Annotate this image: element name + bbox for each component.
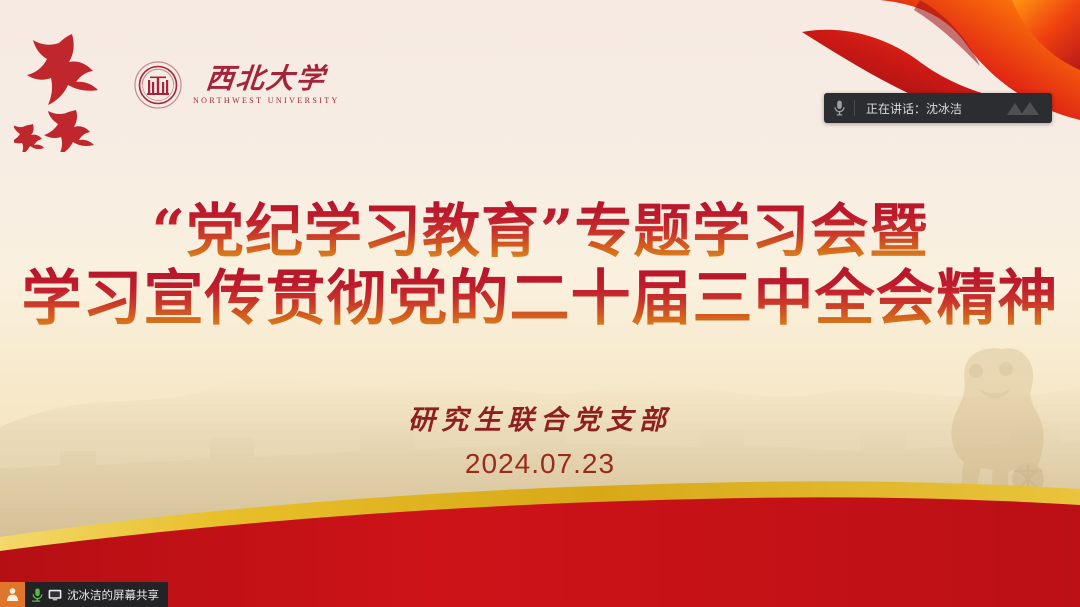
- taskbar-title: 沈冰洁的屏幕共享: [67, 587, 159, 603]
- active-speaker-label: 正在讲话：沈冰洁: [855, 100, 994, 117]
- screen-share-icon[interactable]: [48, 589, 62, 601]
- meeting-app-icon[interactable]: [0, 582, 25, 607]
- active-speaker-bar[interactable]: 正在讲话：沈冰洁: [824, 93, 1052, 123]
- screen-share-taskbar[interactable]: 沈冰洁的屏幕共享: [0, 582, 168, 607]
- taskbar-body[interactable]: 沈冰洁的屏幕共享: [25, 582, 168, 607]
- avatar-placeholder-icon: [994, 93, 1052, 123]
- slide-background: [0, 0, 1080, 607]
- microphone-icon: [824, 100, 854, 116]
- screen-share-viewer: 西北大学 NORTHWEST UNIVERSITY: [0, 0, 1080, 607]
- microphone-on-icon[interactable]: [32, 588, 43, 602]
